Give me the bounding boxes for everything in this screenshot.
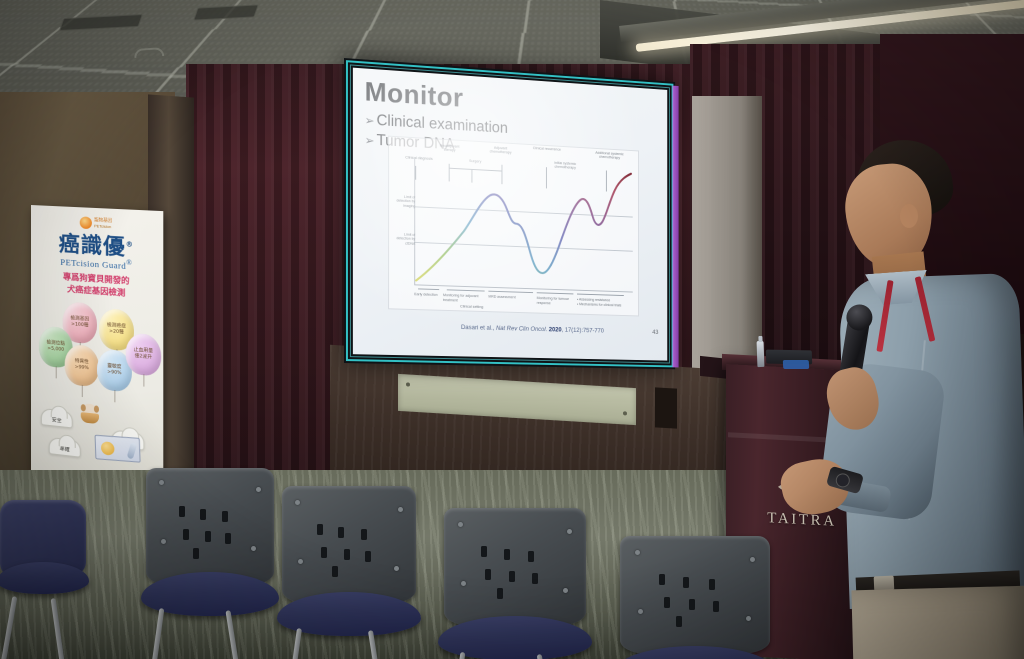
banner-product-card-icon <box>95 434 141 462</box>
citation-year: 2020 <box>549 326 562 333</box>
projection-screen: Monitor ➢Clinical examination ➢Tumor DNA… <box>344 58 675 369</box>
tumour-burden-chart: Clinical diagnosis Neoadjuvant therapy S… <box>388 136 639 317</box>
basket-icon <box>81 412 99 424</box>
rivet-icon <box>750 557 755 562</box>
rivet-icon <box>567 529 572 534</box>
presenter-ear <box>900 204 918 228</box>
rivet-icon <box>563 588 568 593</box>
chart-bracket <box>488 291 533 293</box>
rivet-icon <box>159 480 164 485</box>
chair-4 <box>620 536 770 654</box>
rivet-icon <box>461 581 466 586</box>
water-bottle <box>757 341 765 367</box>
slide-citation: Dasari et al., Nat Rev Clin Oncol. 2020,… <box>461 324 604 334</box>
chart-ylabel-ctdna: Limit of detection by ctDNA <box>390 232 415 246</box>
rivet-icon <box>638 609 643 614</box>
screw-icon <box>623 411 627 415</box>
presentation-room-photo: Monitor ➢Clinical examination ➢Tumor DNA… <box>0 0 1024 659</box>
chart-annotation-additional-systemic-chemotherapy: Additional systemic chemotherapy <box>590 150 629 161</box>
rivet-icon <box>635 550 640 555</box>
screw-icon <box>406 382 410 386</box>
rivet-icon <box>746 616 751 621</box>
rivet-icon <box>256 487 261 492</box>
banner-title-cn-sup: ® <box>126 240 134 249</box>
presenter-trousers <box>851 586 1024 659</box>
chart-label-early-detection: Early detection <box>414 292 439 297</box>
rivet-icon <box>161 539 166 544</box>
citation-journal: Nat Rev Clin Oncol. <box>496 325 547 333</box>
bullet-arrow-icon: ➢ <box>365 133 375 148</box>
chart-tumour-burden-curve <box>414 158 633 292</box>
balloon-1-value: >100種 <box>71 322 88 328</box>
wall-column-right <box>692 96 762 396</box>
chair-5 <box>0 500 86 580</box>
banner-cloud-1: 安全 <box>41 408 73 428</box>
balloon-3-value: >5,000 <box>47 346 64 352</box>
banner-balloon-6: 止血用量偅2滻升 <box>126 332 161 376</box>
rivet-icon <box>298 559 303 564</box>
chart-annotation-clinical-recurrence: Clinical recurrence <box>531 146 562 152</box>
chart-annotation-adjuvant-chemotherapy: Adjuvant chemotherapy <box>485 145 517 155</box>
chair-back <box>444 508 586 626</box>
chair-back <box>282 486 416 604</box>
chart-label-monitoring-tumour-response: Monitoring for tumour response <box>537 296 574 306</box>
citation-author: Dasari et al., <box>461 324 494 332</box>
banner-balloon-4: 特異性>99% <box>65 344 99 388</box>
bullet-arrow-icon: ➢ <box>365 113 375 128</box>
chart-bracket <box>447 289 485 291</box>
chair-back-perforations <box>179 506 243 556</box>
rivet-icon <box>295 500 300 505</box>
chair-1 <box>146 468 274 586</box>
balloon-2-value: >20種 <box>109 329 124 335</box>
chair-back-perforations <box>317 524 384 574</box>
chair-back <box>146 468 274 586</box>
banner-cloud-group: 安全 即時 準確 <box>35 401 159 478</box>
balloon-4-value: >99% <box>75 365 89 371</box>
chart-label-mrd-assessment: MRD assessment <box>488 295 531 301</box>
presenter <box>770 130 1024 659</box>
banner-title-en-text: PETcision Guard <box>60 257 126 271</box>
chair-back <box>620 536 770 654</box>
banner-cloud-3: 準確 <box>49 437 81 458</box>
banner-logo-name: 寵物基因 <box>94 217 112 223</box>
chair-3 <box>444 508 586 626</box>
chart-label-monitoring-adjuvant: Monitoring for adjuvant treatment <box>443 293 479 303</box>
test-tube-icon <box>127 442 138 460</box>
balloon-5-value: >90% <box>107 370 121 376</box>
sun-logo-icon <box>80 216 92 229</box>
slide-body: Monitor ➢Clinical examination ➢Tumor DNA… <box>353 68 667 361</box>
chair-seat <box>0 562 89 594</box>
rivet-icon <box>458 522 463 527</box>
banner-subtitle: 專爲狗寶貝開發的 犬癌症基因檢測 <box>35 269 159 302</box>
rivet-icon <box>394 566 399 571</box>
chart-bracket <box>537 292 574 294</box>
banner-logo-sub: PETcision <box>94 224 111 229</box>
banner-logo-text: 寵物基因 PETcision <box>94 217 112 229</box>
chair-back-perforations <box>659 574 734 624</box>
chart-annotation-neoadjuvant-therapy: Neoadjuvant therapy <box>433 143 465 154</box>
screen-edge-fringe-magenta <box>672 86 678 368</box>
chart-label-assessing-resistance: • Assessing resistance • Mechanisms for … <box>577 297 629 307</box>
chair-2 <box>282 486 416 604</box>
chair-back-perforations <box>481 546 552 596</box>
rivet-icon <box>398 507 403 512</box>
slide-number: 43 <box>652 329 658 336</box>
hot-air-balloon-basket-with-dog-icon <box>77 401 103 424</box>
chart-ylabel-imaging: Limit of detection by imaging <box>390 194 415 209</box>
chart-bracket <box>577 294 624 296</box>
banner-balloon-group: 檢測基因>100種 檢測癌症>20種 檢測位點>5,000 特異性>99% 靈敏… <box>35 297 159 414</box>
chart-xlabel: Clinical setting <box>460 304 483 309</box>
wall-recess <box>655 387 677 428</box>
coin-icon <box>101 441 115 455</box>
citation-locator: , 17(12):757-770 <box>562 327 604 335</box>
balloon-6-value: 偅2滻升 <box>135 354 152 361</box>
banner-title-en-sup: ® <box>126 259 132 268</box>
chart-bracket <box>418 288 439 290</box>
projected-slide: Monitor ➢Clinical examination ➢Tumor DNA… <box>353 68 667 361</box>
rivet-icon <box>251 546 256 551</box>
